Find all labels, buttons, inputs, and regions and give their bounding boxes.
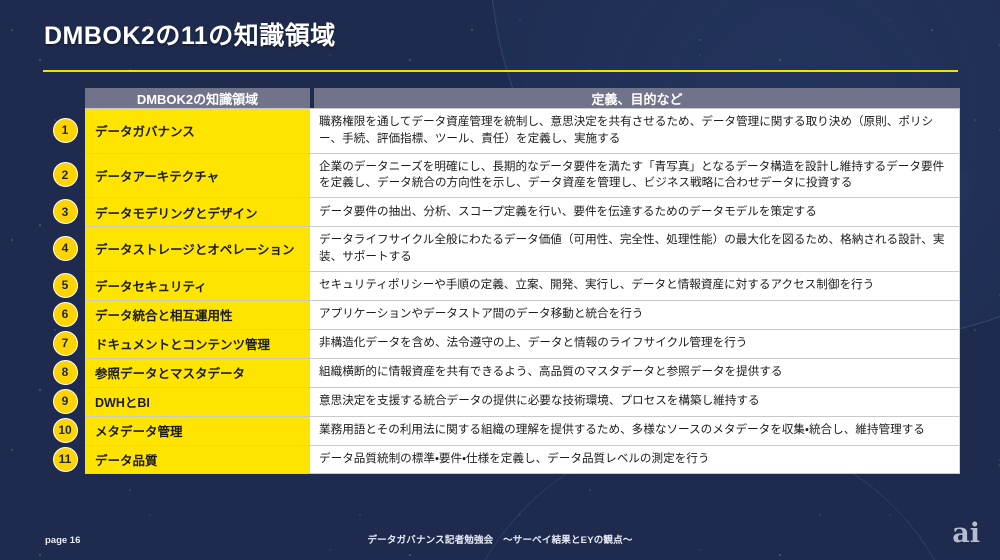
table-row: 3 データモデリングとデザイン データ要件の抽出、分析、スコープ定義を行い、要件…	[45, 197, 960, 226]
row-number-badge: 9	[53, 389, 78, 414]
row-number-badge: 4	[53, 236, 78, 261]
row-number-cell: 3	[45, 197, 85, 226]
knowledge-area-description: データライフサイクル全般にわたるデータ価値（可用性、完全性、処理性能）の最大化を…	[310, 226, 960, 271]
knowledge-area-name: メタデータ管理	[85, 416, 310, 445]
knowledge-area-description: セキュリティポリシーや手順の定義、立案、開発、実行し、データと情報資産に対するア…	[310, 271, 960, 300]
brand-logo-icon: ai	[940, 518, 980, 550]
row-number-badge: 1	[53, 118, 78, 143]
header-knowledge-area: DMBOK2の知識領域	[85, 88, 310, 108]
knowledge-area-name: DWHとBI	[85, 387, 310, 416]
table-row: 11 データ品質 データ品質統制の標準・要件・仕様を定義し、データ品質レベルの測…	[45, 445, 960, 474]
table-row: 4 データストレージとオペレーション データライフサイクル全般にわたるデータ価値…	[45, 226, 960, 271]
row-number-badge: 8	[53, 360, 78, 385]
knowledge-areas-table: DMBOK2の知識領域 定義、目的など 1 データガバナンス 職務権限を通してデ…	[45, 88, 960, 474]
row-number-badge: 6	[53, 302, 78, 327]
knowledge-area-name: ドキュメントとコンテンツ管理	[85, 329, 310, 358]
row-number-cell: 9	[45, 387, 85, 416]
table-row: 2 データアーキテクチャ 企業のデータニーズを明確にし、長期的なデータ要件を満た…	[45, 153, 960, 198]
slide-canvas: DMBOK2の11の知識領域 DMBOK2の知識領域 定義、目的など 1 データ…	[0, 0, 1000, 560]
row-number-cell: 8	[45, 358, 85, 387]
row-number-badge: 10	[53, 418, 78, 443]
knowledge-area-name: データ品質	[85, 445, 310, 474]
knowledge-area-description: アプリケーションやデータストア間のデータ移動と統合を行う	[310, 300, 960, 329]
row-number-cell: 10	[45, 416, 85, 445]
knowledge-area-name: データストレージとオペレーション	[85, 226, 310, 271]
knowledge-area-description: 職務権限を通してデータ資産管理を統制し、意思決定を共有させるため、データ管理に関…	[310, 108, 960, 153]
table-row: 9 DWHとBI 意思決定を支援する統合データの提供に必要な技術環境、プロセスを…	[45, 387, 960, 416]
row-number-cell: 6	[45, 300, 85, 329]
knowledge-area-description: 業務用語とその利用法に関する組織の理解を提供するため、多様なソースのメタデータを…	[310, 416, 960, 445]
table-header-row: DMBOK2の知識領域 定義、目的など	[45, 88, 960, 108]
knowledge-area-description: 企業のデータニーズを明確にし、長期的なデータ要件を満たす「青写真」となるデータ構…	[310, 153, 960, 198]
row-number-badge: 5	[53, 273, 78, 298]
row-number-cell: 4	[45, 226, 85, 271]
table-row: 1 データガバナンス 職務権限を通してデータ資産管理を統制し、意思決定を共有させ…	[45, 108, 960, 153]
header-definition: 定義、目的など	[314, 88, 960, 108]
table-row: 8 参照データとマスタデータ 組織横断的に情報資産を共有できるよう、高品質のマス…	[45, 358, 960, 387]
row-number-badge: 3	[53, 199, 78, 224]
knowledge-area-name: データアーキテクチャ	[85, 153, 310, 198]
row-number-cell: 7	[45, 329, 85, 358]
knowledge-area-name: データガバナンス	[85, 108, 310, 153]
knowledge-area-description: 意思決定を支援する統合データの提供に必要な技術環境、プロセスを構築し維持する	[310, 387, 960, 416]
table-row: 10 メタデータ管理 業務用語とその利用法に関する組織の理解を提供するため、多様…	[45, 416, 960, 445]
knowledge-area-name: 参照データとマスタデータ	[85, 358, 310, 387]
knowledge-area-name: データモデリングとデザイン	[85, 197, 310, 226]
title-underline-rule	[43, 70, 958, 72]
knowledge-area-description: データ要件の抽出、分析、スコープ定義を行い、要件を伝達するためのデータモデルを策…	[310, 197, 960, 226]
table-row: 6 データ統合と相互運用性 アプリケーションやデータストア間のデータ移動と統合を…	[45, 300, 960, 329]
footer-event-title: データガバナンス記者勉強会 ～サーベイ結果とEYの観点～	[0, 532, 1000, 546]
row-number-cell: 11	[45, 445, 85, 474]
row-number-badge: 7	[53, 331, 78, 356]
row-number-cell: 5	[45, 271, 85, 300]
knowledge-area-description: データ品質統制の標準・要件・仕様を定義し、データ品質レベルの測定を行う	[310, 445, 960, 474]
header-number-spacer	[45, 88, 85, 108]
row-number-cell: 2	[45, 153, 85, 198]
table-row: 5 データセキュリティ セキュリティポリシーや手順の定義、立案、開発、実行し、デ…	[45, 271, 960, 300]
row-number-badge: 2	[53, 162, 78, 187]
knowledge-area-name: データセキュリティ	[85, 271, 310, 300]
row-number-cell: 1	[45, 108, 85, 153]
table-row: 7 ドキュメントとコンテンツ管理 非構造化データを含め、法令遵守の上、データと情…	[45, 329, 960, 358]
knowledge-area-description: 非構造化データを含め、法令遵守の上、データと情報のライフサイクル管理を行う	[310, 329, 960, 358]
page-title: DMBOK2の11の知識領域	[44, 16, 336, 52]
knowledge-area-name: データ統合と相互運用性	[85, 300, 310, 329]
knowledge-area-description: 組織横断的に情報資産を共有できるよう、高品質のマスタデータと参照データを提供する	[310, 358, 960, 387]
row-number-badge: 11	[53, 447, 78, 472]
